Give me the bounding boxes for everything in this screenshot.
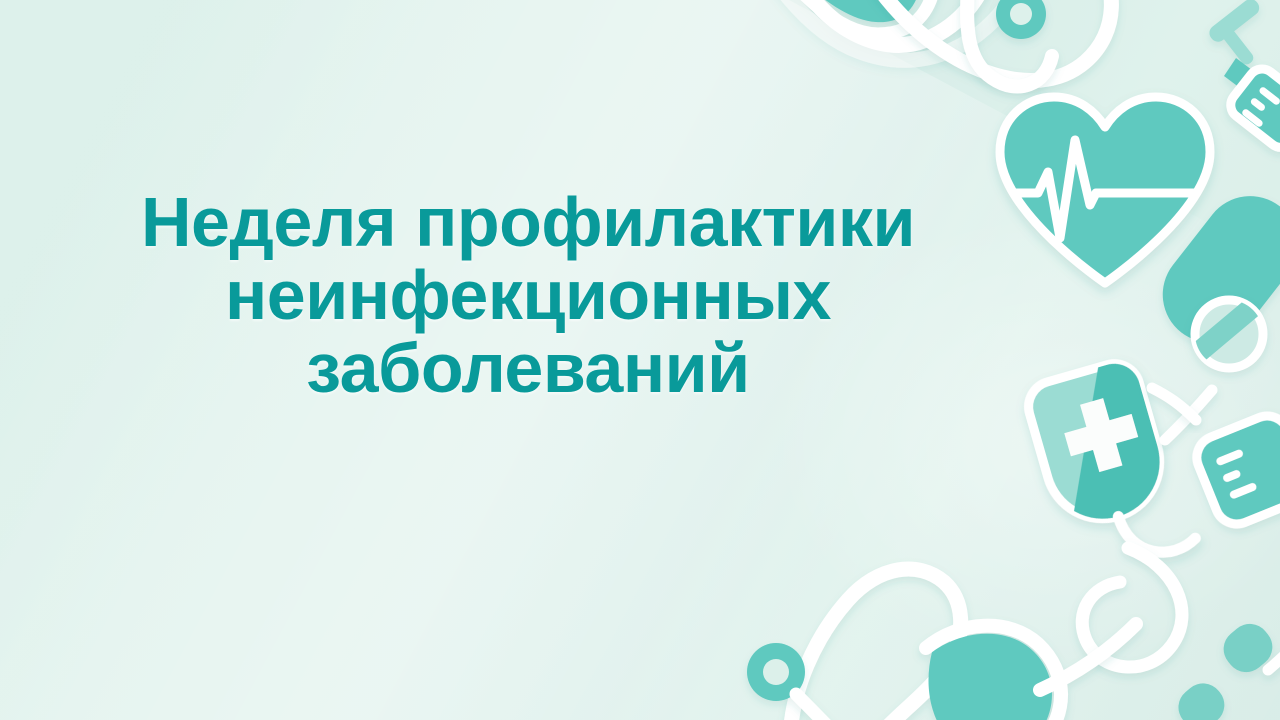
slide-canvas: Неделя профилактики неинфекционных забол… [0,0,1280,720]
title-line-2: неинфекционных [24,259,1032,332]
title-line-3: заболеваний [24,332,1032,405]
slide-title: Неделя профилактики неинфекционных забол… [0,186,1056,404]
title-line-1: Неделя профилактики [24,186,1032,259]
